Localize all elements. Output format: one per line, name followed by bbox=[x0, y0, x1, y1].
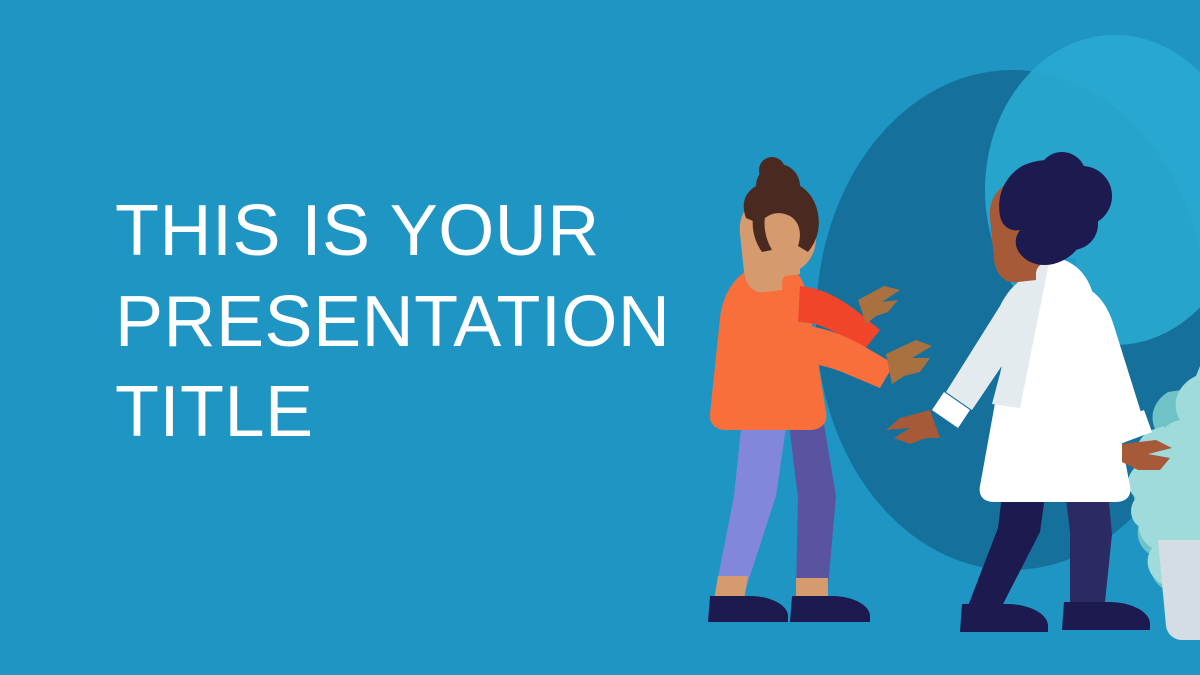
left-person-back-hand bbox=[858, 286, 900, 324]
title-block: THIS IS YOUR PRESENTATION TITLE bbox=[115, 186, 715, 458]
page-title: THIS IS YOUR PRESENTATION TITLE bbox=[115, 186, 715, 458]
left-person-front-shoe bbox=[708, 596, 788, 622]
left-person-back-shoe bbox=[790, 596, 870, 622]
right-person-back-hand bbox=[886, 410, 940, 444]
plant-pot bbox=[1158, 540, 1200, 640]
right-person-back-shoe bbox=[960, 604, 1048, 632]
left-person-hair-bun-top bbox=[759, 157, 785, 183]
right-person-front-shoe bbox=[1062, 602, 1150, 630]
right-person-hair-puff-bottom bbox=[1046, 198, 1098, 250]
presentation-slide: THIS IS YOUR PRESENTATION TITLE bbox=[0, 0, 1200, 675]
figure-right-person bbox=[886, 152, 1172, 632]
left-person-front-hand bbox=[886, 340, 932, 384]
figure-left-person bbox=[708, 157, 932, 622]
right-person-hair-puff-top bbox=[1038, 152, 1086, 200]
